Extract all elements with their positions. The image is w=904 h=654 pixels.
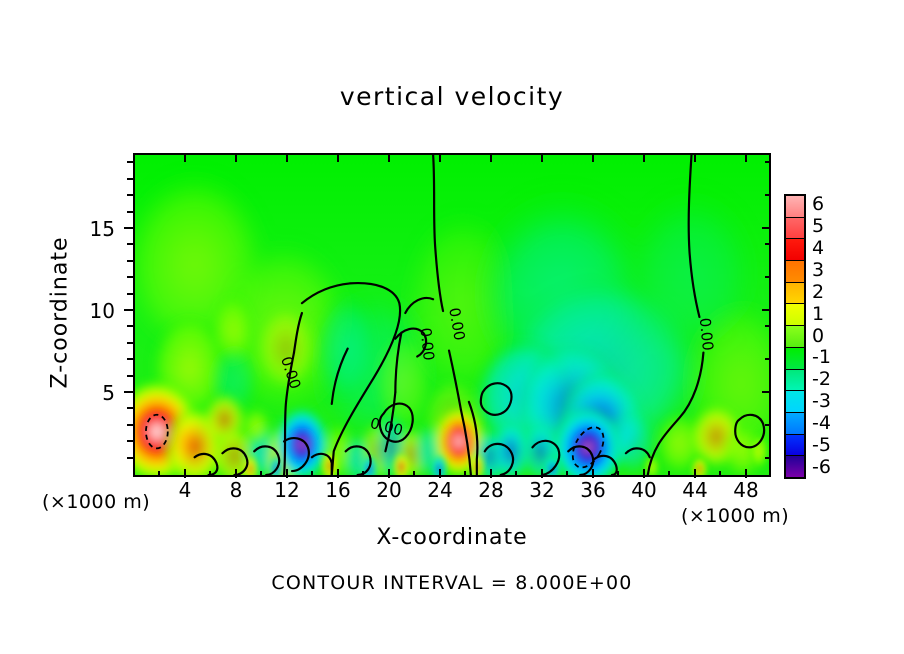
- plot-canvas: vertical velocity: [0, 0, 904, 654]
- x-units-label: (×1000 m): [681, 505, 789, 527]
- svg-text:0.00: 0.00: [416, 327, 437, 362]
- x-axis-label: X-coordinate: [0, 525, 904, 550]
- colorbar-tick-label: 3: [812, 261, 824, 280]
- colorbar-tick-label: 5: [812, 217, 824, 236]
- colorbar-tick-label: 2: [812, 283, 824, 302]
- colorbar-cell: [786, 348, 804, 370]
- colorbar-tick-label: -6: [812, 458, 831, 477]
- plot-area: 0.00 0.00 0.00 0.00 0.00: [133, 153, 771, 477]
- colorbar-cell: [786, 218, 804, 240]
- colorbar-cell: [786, 326, 804, 348]
- contour-interval-note: CONTOUR INTERVAL = 8.000E+00: [0, 572, 904, 594]
- y-units-label: (×1000 m): [42, 491, 150, 513]
- colorbar-cell: [786, 413, 804, 435]
- colorbar-cell: [786, 261, 804, 283]
- colorbar-tick-label: 4: [812, 239, 824, 258]
- colorbar-cell: [786, 435, 804, 457]
- page-title: vertical velocity: [0, 82, 904, 111]
- contour-field: 0.00 0.00 0.00 0.00 0.00: [135, 155, 769, 475]
- colorbar-tick-label: -5: [812, 436, 831, 455]
- xtick-label: 48: [716, 478, 776, 502]
- colorbar-labels: 6543210-1-2-3-4-5-6: [812, 194, 852, 479]
- colorbar-tick-label: -4: [812, 414, 831, 433]
- colorbar-cell: [786, 283, 804, 305]
- y-axis-label: Z-coordinate: [48, 193, 73, 433]
- colorbar-tick-label: 0: [812, 327, 824, 346]
- colorbar-cell: [786, 370, 804, 392]
- colorbar-cell: [786, 196, 804, 218]
- colorbar-tick-label: 1: [812, 305, 824, 324]
- colorbar-tick-label: 6: [812, 195, 824, 214]
- colorbar: [784, 194, 806, 479]
- colorbar-cell: [786, 304, 804, 326]
- svg-text:0.00: 0.00: [696, 317, 717, 352]
- colorbar-tick-label: -2: [812, 370, 831, 389]
- colorbar-cell: [786, 391, 804, 413]
- colorbar-tick-label: -3: [812, 392, 831, 411]
- colorbar-cell: [786, 456, 804, 477]
- colorbar-cell: [786, 239, 804, 261]
- colorbar-tick-label: -1: [812, 348, 831, 367]
